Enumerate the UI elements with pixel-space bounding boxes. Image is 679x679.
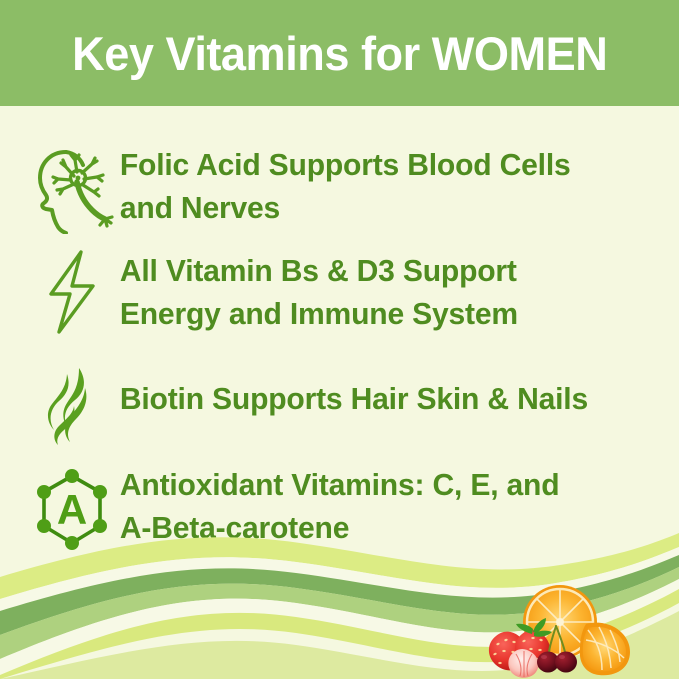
benefit-item-folic-acid: Folic Acid Supports Blood Cells and Nerv… [0,144,679,236]
fruit-cluster [478,578,638,679]
benefit-line: Energy and Immune System [120,293,518,336]
benefit-text-biotin: Biotin Supports Hair Skin & Nails [116,360,588,421]
vitamins-infographic: Key Vitamins for WOMEN [0,0,679,679]
benefit-text-antioxidants: Antioxidant Vitamins: C, E, and A-Beta-c… [116,464,559,550]
benefit-item-antioxidants: A Antioxidant Vitamins: C, E, and A-Beta… [0,464,679,556]
benefit-item-vitamin-b-d3: All Vitamin Bs & D3 Support Energy and I… [0,250,679,342]
antioxidant-molecule-icon: A [28,464,116,556]
benefit-line: and Nerves [120,187,571,230]
benefit-line: Folic Acid Supports Blood Cells [120,144,571,187]
benefit-item-biotin: Biotin Supports Hair Skin & Nails [0,360,679,452]
hair-strand-icon [28,360,116,452]
benefit-text-vitamin-b-d3: All Vitamin Bs & D3 Support Energy and I… [116,250,518,336]
head-neuron-icon [28,144,116,236]
benefit-line: Biotin Supports Hair Skin & Nails [120,378,588,421]
benefit-line: All Vitamin Bs & D3 Support [120,250,518,293]
molecule-letter: A [57,486,87,533]
orange-wedge [580,623,630,676]
page-title: Key Vitamins for WOMEN [72,30,607,77]
benefits-list: Folic Acid Supports Blood Cells and Nerv… [0,106,679,556]
benefit-line: Antioxidant Vitamins: C, E, and [120,464,560,507]
lightning-bolt-icon [28,250,116,342]
benefit-line: A-Beta-carotene [120,507,560,550]
header-band: Key Vitamins for WOMEN [0,0,679,106]
benefit-text-folic-acid: Folic Acid Supports Blood Cells and Nerv… [116,144,571,230]
